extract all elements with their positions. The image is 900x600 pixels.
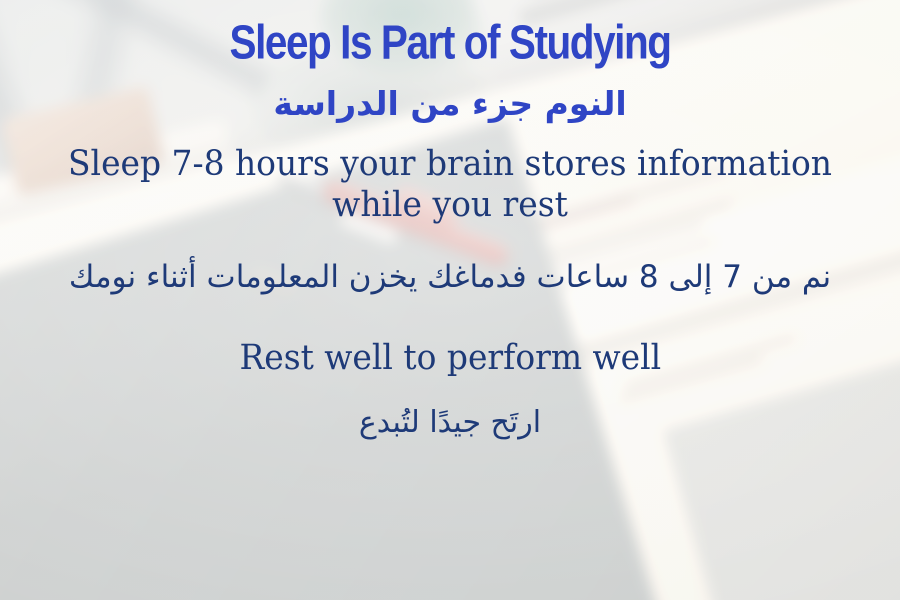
poster-body-en: Sleep 7-8 hours your brain stores inform… xyxy=(46,144,854,225)
poster-content: Sleep Is Part of Studying النوم جزء من ا… xyxy=(0,0,900,600)
poster-title-en: Sleep Is Part of Studying xyxy=(229,18,670,67)
poster-title-ar: النوم جزء من الدراسة xyxy=(273,86,626,122)
poster-tagline-ar: ارتَح جيدًا لتُبدع xyxy=(359,405,541,441)
poster-tagline-en: Rest well to perform well xyxy=(239,339,661,378)
sleep-study-poster: Sleep Is Part of Studying النوم جزء من ا… xyxy=(0,0,900,600)
poster-body-ar: نم من 7 إلى 8 ساعات فدماغك يخزن المعلوما… xyxy=(0,259,900,296)
